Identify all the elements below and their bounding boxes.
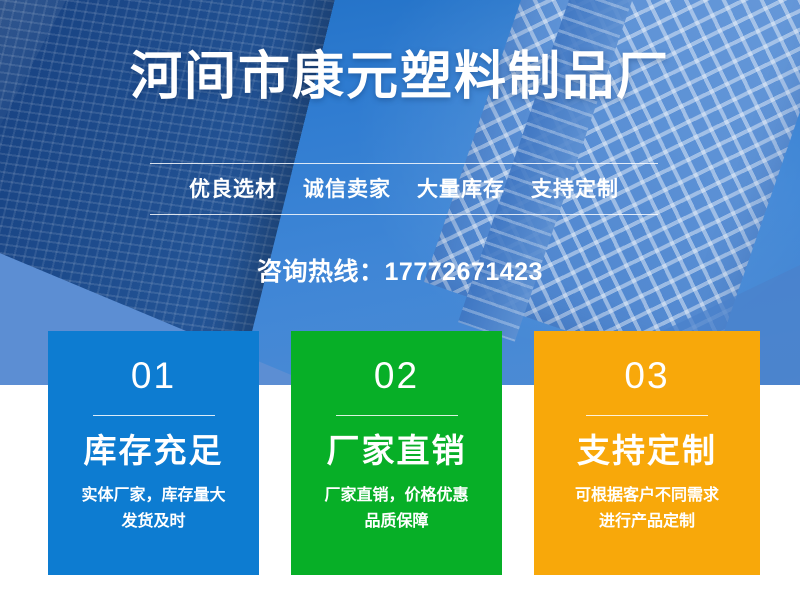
- card-description: 实体厂家，库存量大 发货及时: [48, 483, 259, 535]
- feature-card-02[interactable]: 02 厂家直销 厂家直销，价格优惠 品质保障: [291, 331, 502, 575]
- card-number: 03: [534, 357, 760, 394]
- card-description-line-2: 品质保障: [299, 509, 494, 535]
- card-title: 库存充足: [48, 430, 259, 471]
- promo-banner: 河间市康元塑料制品厂 优良选材 诚信卖家 大量库存 支持定制 咨询热线：1777…: [0, 0, 800, 597]
- tagline-list: 优良选材 诚信卖家 大量库存 支持定制: [150, 173, 658, 203]
- tagline-bar: 优良选材 诚信卖家 大量库存 支持定制: [150, 163, 658, 215]
- card-number: 02: [291, 357, 502, 394]
- card-number: 01: [48, 357, 259, 394]
- page-title: 河间市康元塑料制品厂: [0, 48, 800, 108]
- card-divider: [586, 415, 708, 416]
- card-description-line-2: 发货及时: [56, 509, 251, 535]
- feature-card-03[interactable]: 03 支持定制 可根据客户不同需求 进行产品定制: [534, 331, 760, 575]
- card-description: 厂家直销，价格优惠 品质保障: [291, 483, 502, 535]
- card-title: 厂家直销: [291, 430, 502, 471]
- card-description: 可根据客户不同需求 进行产品定制: [534, 483, 760, 535]
- card-description-line-1: 厂家直销，价格优惠: [299, 483, 494, 509]
- card-description-line-1: 实体厂家，库存量大: [56, 483, 251, 509]
- tagline-item-4: 支持定制: [531, 173, 619, 203]
- card-description-line-2: 进行产品定制: [542, 509, 752, 535]
- feature-card-01[interactable]: 01 库存充足 实体厂家，库存量大 发货及时: [48, 331, 259, 575]
- card-divider: [93, 415, 215, 416]
- card-description-line-1: 可根据客户不同需求: [542, 483, 752, 509]
- tagline-item-2: 诚信卖家: [303, 173, 391, 203]
- tagline-item-3: 大量库存: [417, 173, 505, 203]
- card-divider: [336, 415, 458, 416]
- tagline-item-1: 优良选材: [189, 173, 277, 203]
- hero-section: 河间市康元塑料制品厂 优良选材 诚信卖家 大量库存 支持定制 咨询热线：1777…: [0, 0, 800, 385]
- card-title: 支持定制: [534, 430, 760, 471]
- hotline-text: 咨询热线：17772671423: [0, 252, 800, 288]
